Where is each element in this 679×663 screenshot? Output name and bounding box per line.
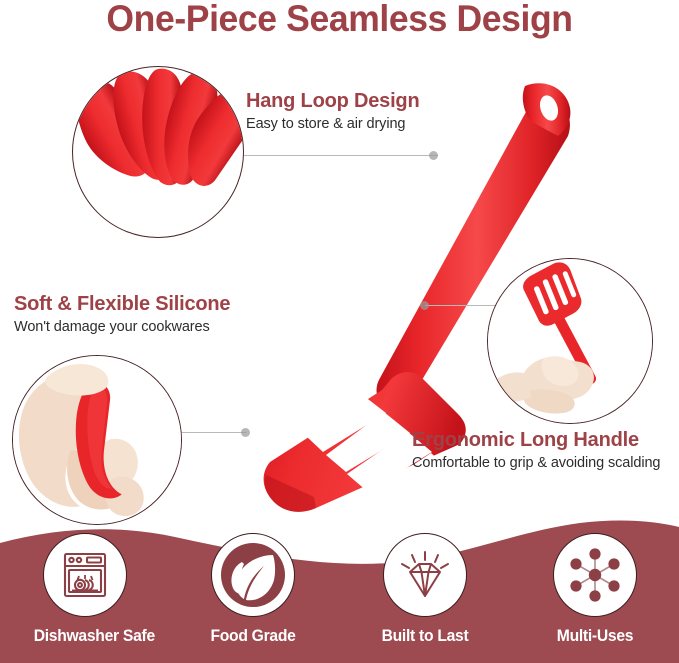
feature-badge: [383, 533, 467, 617]
connector-line-ergo: [425, 305, 497, 306]
spatula-handle-hang-loops-icon: [73, 67, 243, 237]
feature-multi-uses: Multi-Uses: [541, 533, 649, 646]
zoom-circle-ergonomic-grip: [487, 258, 653, 424]
callout-heading: Hang Loop Design: [246, 90, 419, 112]
feature-built-to-last: Built to Last: [371, 533, 479, 646]
network-hub-icon: [567, 547, 623, 603]
feature-label: Built to Last: [374, 627, 477, 646]
connector-dot-ergo: [420, 301, 429, 310]
leaf-icon: [220, 542, 286, 608]
hand-flexing-spatula-icon: [13, 356, 181, 524]
callout-heading: Ergonomic Long Handle: [412, 429, 660, 451]
feature-label: Dishwasher Safe: [34, 627, 137, 646]
callout-subtext: Won't damage your cookwares: [14, 318, 230, 338]
feature-badge: [211, 533, 295, 617]
callout-subtext: Easy to store & air drying: [246, 115, 419, 135]
feature-badge: [43, 533, 127, 617]
connector-line-hang-loop: [238, 155, 438, 156]
feature-label: Food Grade: [202, 627, 305, 646]
connector-dot-hang-loop: [429, 151, 438, 160]
infographic-canvas: One-Piece Seamless Design: [0, 0, 679, 663]
page-title: One-Piece Seamless Design: [14, 0, 666, 40]
zoom-circle-hang-loops: [72, 66, 244, 238]
feature-dishwasher-safe: Dishwasher Safe: [31, 533, 139, 646]
feature-food-grade: Food Grade: [199, 533, 307, 646]
zoom-circle-flexibility: [12, 355, 182, 525]
hang-loop-holes: [94, 191, 228, 220]
feature-label: Multi-Uses: [544, 627, 647, 646]
hand-holding-spatula-icon: [488, 259, 652, 423]
dishwasher-icon: [59, 549, 111, 601]
diamond-icon: [397, 548, 453, 602]
callout-hang-loop: Hang Loop Design Easy to store & air dry…: [246, 90, 419, 135]
connector-line-soft: [182, 432, 246, 433]
callout-heading: Soft & Flexible Silicone: [14, 293, 230, 315]
callout-soft-flexible: Soft & Flexible Silicone Won't damage yo…: [14, 293, 230, 338]
callout-ergonomic-handle: Ergonomic Long Handle Comfortable to gri…: [412, 429, 660, 474]
feature-badge: [553, 533, 637, 617]
connector-dot-soft: [241, 428, 250, 437]
callout-subtext: Comfortable to grip & avoiding scalding: [412, 454, 660, 474]
